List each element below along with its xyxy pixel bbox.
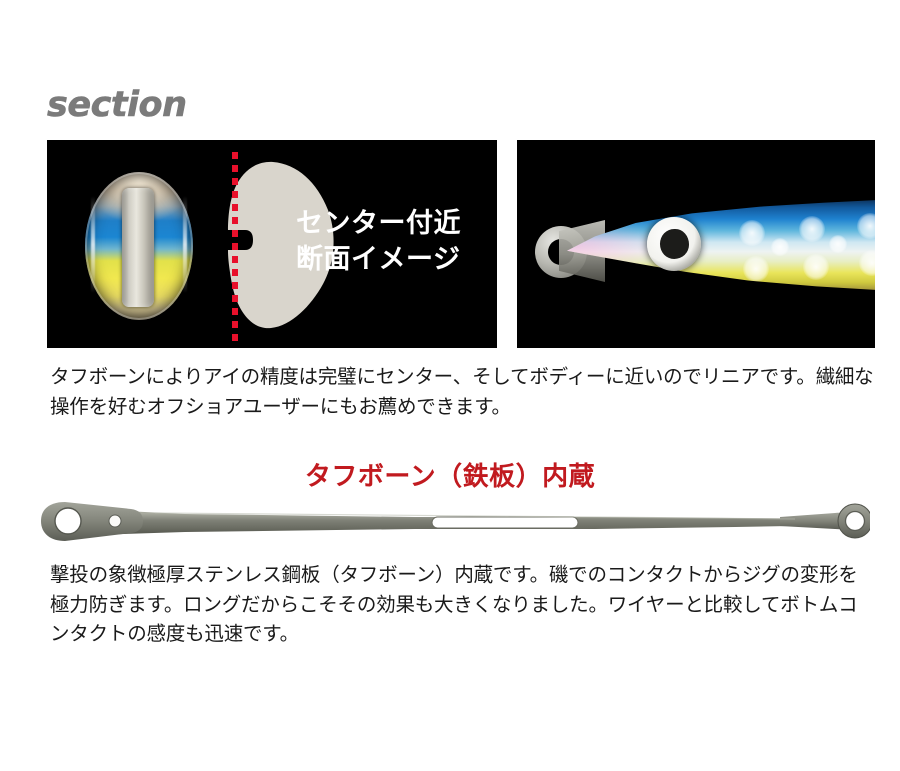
panel-caption-line1: センター付近 — [296, 206, 461, 242]
jig-head-photo — [529, 190, 875, 302]
cross-section-photo-panel: センター付近 断面イメージ — [47, 140, 497, 348]
lure-glint-left — [91, 196, 95, 294]
cut-lure-photo — [85, 172, 193, 320]
glow-dot-group — [567, 198, 875, 294]
jig-head-photo-panel — [517, 140, 875, 348]
panel-caption: センター付近 断面イメージ — [296, 206, 461, 277]
description-paragraph-top: タフボーンによりアイの精度は完璧にセンター、そしてボディーに近いのでリニアです。… — [50, 362, 876, 421]
page-title: section — [47, 88, 187, 123]
description-paragraph-bottom: 撃投の象徴極厚ステンレス鋼板（タフボーン）内蔵です。磯でのコンタクトからジグの変… — [50, 560, 876, 649]
center-dotted-line — [232, 152, 238, 344]
jig-eye — [647, 217, 701, 271]
panel-caption-line2: 断面イメージ — [296, 242, 461, 278]
lure-glint-right — [183, 196, 187, 294]
jig-body — [567, 198, 875, 294]
embedded-bone-strip — [122, 188, 154, 306]
page-root: section センター付近 断面イメージ — [0, 0, 900, 771]
tough-bone-plate-image — [35, 498, 870, 546]
tough-bone-headline: タフボーン（鉄板）内蔵 — [0, 456, 900, 493]
